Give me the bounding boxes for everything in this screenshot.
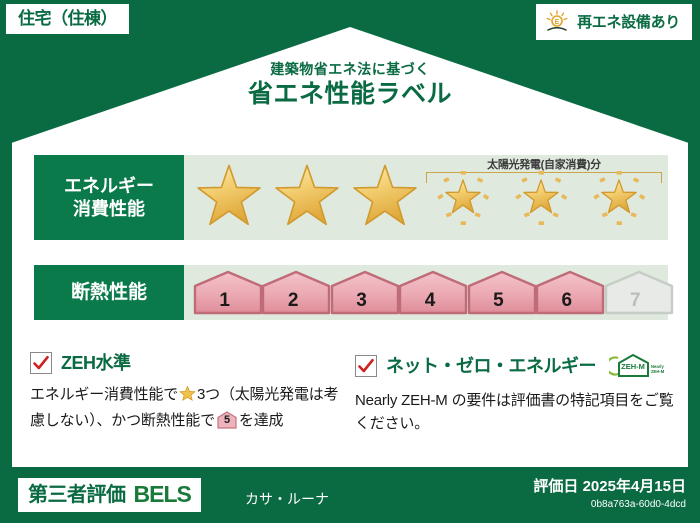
insulation-rating-area: 1234567 [184,265,668,320]
solar-sun-icon: E [544,9,570,35]
netzero-checkbox [355,355,377,377]
energy-performance-label: 住宅（住棟） E 再エネ設備あり 建築物省エネ法に基づく 省エネ性能ラベル [0,0,700,523]
star-filled [190,159,268,237]
net-zero-energy-section: ネット・ゼロ・エネルギー ZEH-M Nearly ZEH-M Nearly Z… [355,352,675,436]
evaluation-date-value: 2025年4月15日 [583,478,686,495]
insulation-grade-number: 4 [397,290,462,312]
star-solar [424,159,502,237]
netzero-heading-text: ネット・ゼロ・エネルギー [386,357,596,375]
insulation-grade-scale: 1234567 [184,265,668,320]
renewable-energy-badge: E 再エネ設備あり [536,4,692,40]
insulation-performance-row: 断熱性能 1234567 [34,265,668,320]
insulation-grade-number: 6 [534,290,599,312]
evaluation-date-label: 評価日 [533,478,578,495]
star-rating [184,155,668,240]
insulation-grade-active: 3 [329,270,394,316]
inline-house-grade-icon: 5 [217,411,237,429]
building-type-tab: 住宅（住棟） [6,4,129,34]
energy-label-line2: 消費性能 [73,198,145,221]
third-party-label: 第三者評価 [28,485,126,505]
svg-text:ZEH-M: ZEH-M [621,362,645,371]
energy-performance-rating-area: 太陽光発電(自家消費)分 [184,155,668,240]
zeh-heading-text: ZEH水準 [61,354,131,372]
energy-performance-label-box: エネルギー 消費性能 [34,155,184,240]
star-solar [580,159,658,237]
footer-bar: 第三者評価 BELS カサ・ルーナ 評価日 2025年4月15日 0b8a763… [0,467,700,523]
building-name: カサ・ルーナ [245,489,329,509]
zeh-heading-row: ZEH水準 [30,352,350,374]
insulation-grade-number: 3 [329,290,394,312]
svg-text:ZEH-M: ZEH-M [651,369,665,374]
energy-performance-row: エネルギー 消費性能 太陽光発電(自家消費)分 [34,155,668,240]
inline-house-grade-number: 5 [217,412,237,429]
insulation-grade-number: 5 [466,290,531,312]
insulation-grade-active: 4 [397,270,462,316]
insulation-grade-number: 2 [260,290,325,312]
star-solar [502,159,580,237]
zeh-description-part3: を達成 [239,412,283,429]
netzero-description: Nearly ZEH-M の要件は評価書の特記項目をご覧ください。 [355,389,675,436]
inline-star-icon [179,389,196,406]
star-filled [346,159,424,237]
renewable-badge-text: 再エネ設備あり [577,15,680,30]
star-filled [268,159,346,237]
zeh-m-logo: ZEH-M Nearly ZEH-M [609,352,665,380]
insulation-grade-active: 6 [534,270,599,316]
insulation-grade-active: 2 [260,270,325,316]
evaluation-id: 0b8a763a-60d0-4dcd [533,498,686,511]
netzero-heading-row: ネット・ゼロ・エネルギー ZEH-M Nearly ZEH-M [355,352,675,380]
building-type-text: 住宅（住棟） [18,9,117,28]
evaluation-date: 評価日 2025年4月15日 [533,479,686,496]
insulation-grade-number: 1 [192,290,257,312]
insulation-performance-label-box: 断熱性能 [34,265,184,320]
insulation-grade-number: 7 [603,290,668,312]
title-block: 建築物省エネ法に基づく 省エネ性能ラベル [0,62,700,109]
zeh-description: エネルギー消費性能で3つ（太陽光発電は考慮しない）、かつ断熱性能で5を達成 [30,383,350,433]
insulation-grade-active: 1 [192,270,257,316]
evaluation-meta: 評価日 2025年4月15日 0b8a763a-60d0-4dcd [533,479,686,511]
title-subtitle: 建築物省エネ法に基づく [0,62,700,77]
insulation-label-text: 断熱性能 [71,281,147,305]
energy-label-line1: エネルギー [64,175,154,198]
insulation-grade-active: 5 [466,270,531,316]
third-party-evaluation-box: 第三者評価 BELS [18,478,201,512]
page-title: 省エネ性能ラベル [0,81,700,109]
svg-text:E: E [555,19,560,26]
insulation-grade-inactive: 7 [603,270,668,316]
zeh-standard-section: ZEH水準 エネルギー消費性能で3つ（太陽光発電は考慮しない）、かつ断熱性能で5… [30,352,350,433]
zeh-description-part1: エネルギー消費性能で [30,386,178,403]
zeh-checkbox [30,352,52,374]
bels-scheme-label: BELS [134,483,191,506]
